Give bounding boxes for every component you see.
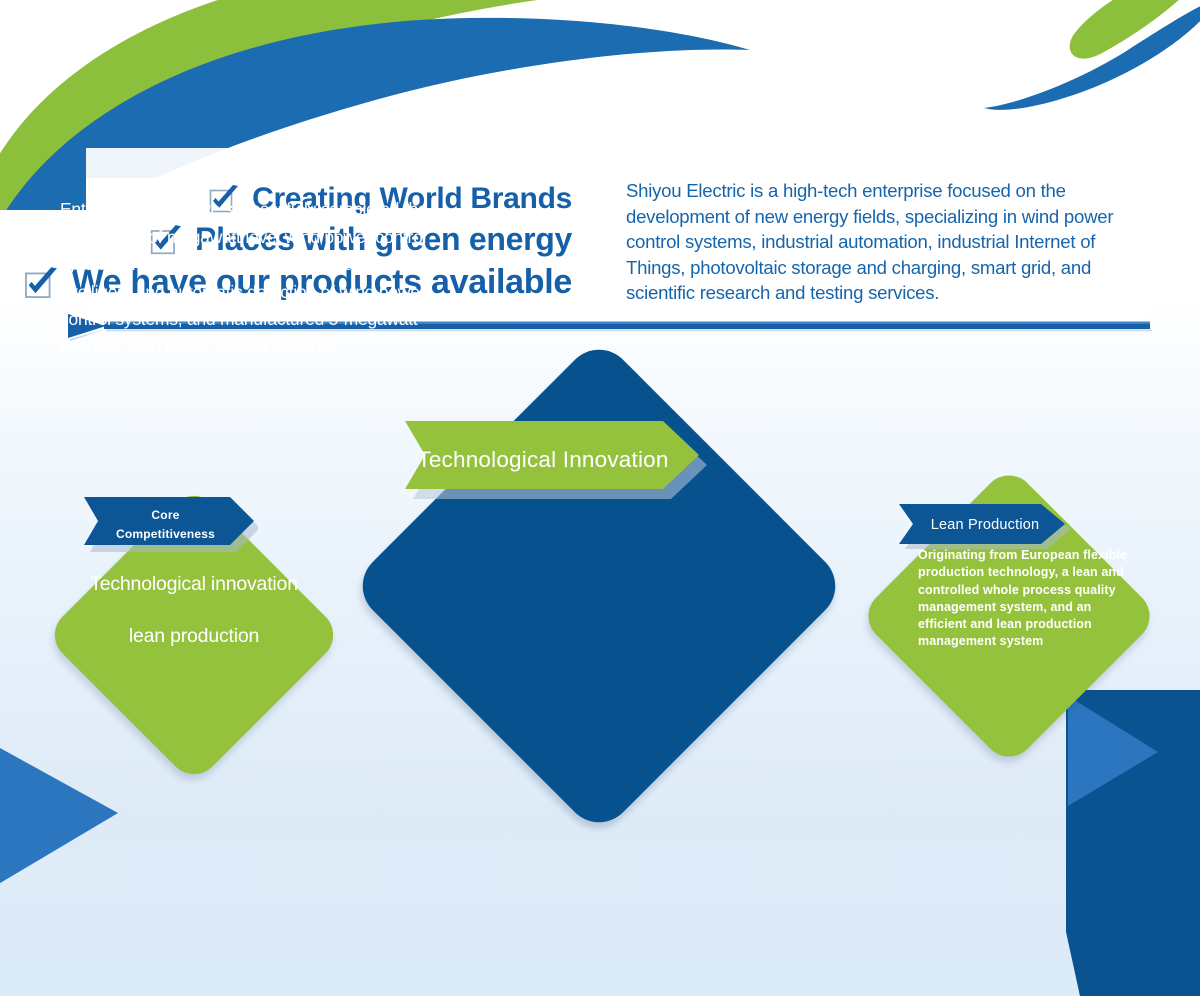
swoosh-green-blue-mirrored-icon [954, 0, 1200, 122]
left-ribbon-line-2: Competitiveness [116, 525, 215, 544]
center-node-diamond [349, 336, 849, 836]
company-description: Shiyou Electric is a high-tech enterpris… [626, 178, 1154, 306]
left-body-line-2: lean production [44, 610, 344, 662]
checkbox-checked-icon[interactable] [22, 265, 58, 301]
center-node-body: Enterprises that have successfully compl… [60, 196, 470, 361]
right-node-ribbon-label: Lean Production [910, 506, 1060, 544]
left-body-line-1: Technological innovation [44, 558, 344, 610]
slide-canvas: Creating World Brands Places with green … [0, 0, 1200, 996]
left-ribbon-line-1: Core [151, 506, 179, 525]
left-node-ribbon-label: Core Competitiveness [88, 501, 243, 549]
left-node-body: Technological innovation lean production [44, 558, 344, 662]
diamond-shape [349, 336, 850, 837]
center-node-ribbon-label: Technological Innovation [403, 424, 683, 494]
right-node-body: Originating from European flexible produ… [918, 547, 1132, 651]
